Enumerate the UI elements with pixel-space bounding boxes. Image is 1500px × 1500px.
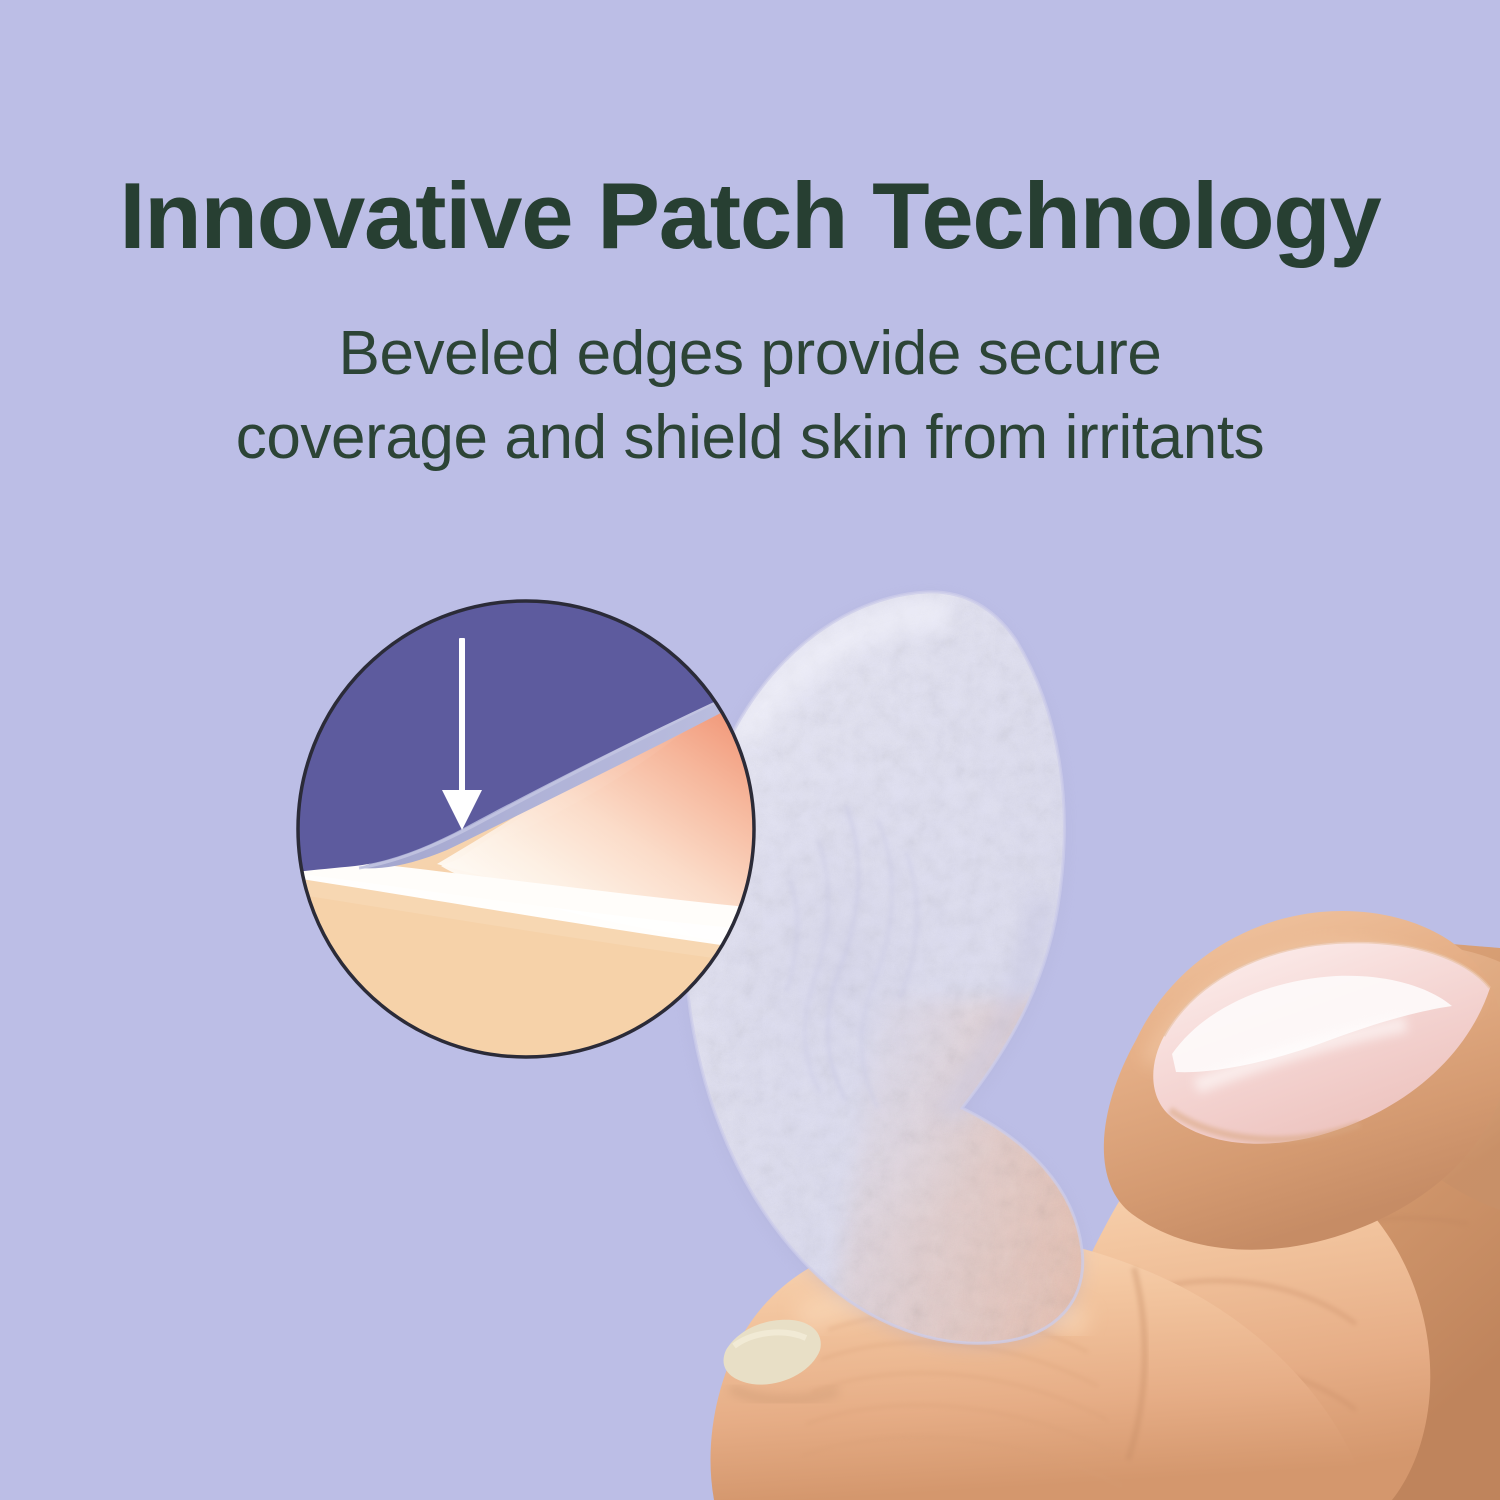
page-title: Innovative Patch Technology: [0, 0, 1500, 264]
text-block: Innovative Patch Technology Beveled edge…: [0, 0, 1500, 481]
product-feature-image: Innovative Patch Technology Beveled edge…: [0, 0, 1500, 1500]
subtitle: Beveled edges provide secure coverage an…: [120, 264, 1380, 481]
subtitle-line-2: coverage and shield skin from irritants: [120, 396, 1380, 480]
subtitle-line-1: Beveled edges provide secure: [120, 312, 1380, 396]
beveled-edge-diagram: [295, 598, 757, 1060]
